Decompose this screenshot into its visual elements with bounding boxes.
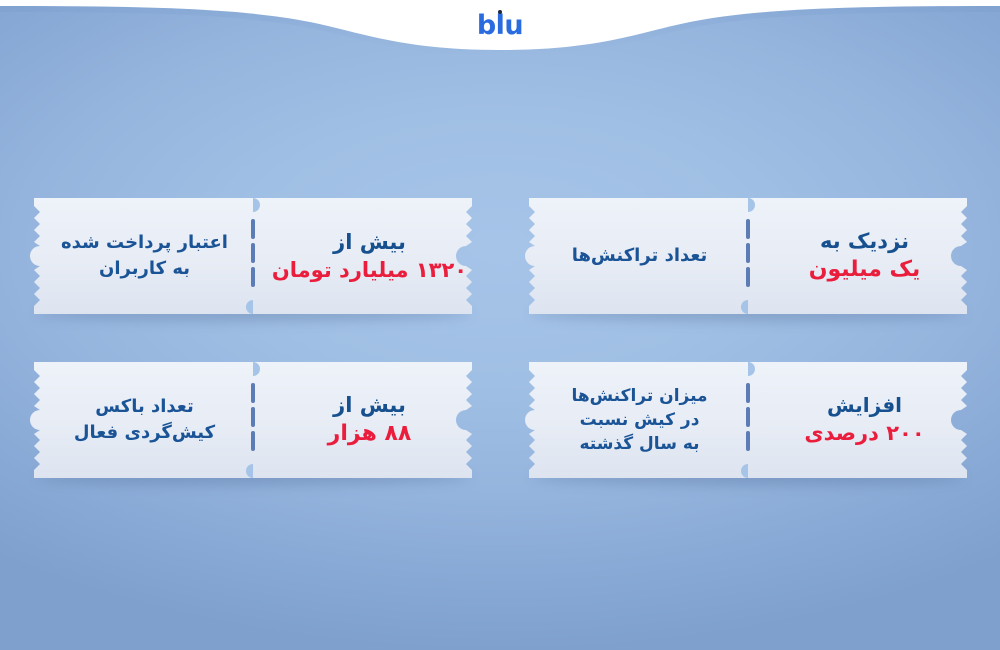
ticket-label-line: میزان تراکنش‌ها <box>571 384 707 408</box>
stat-ticket: بیش از ۸۸ هزار تعداد باکس کیش‌گردی فعال <box>28 360 478 480</box>
logo-letter-u: u <box>504 10 523 41</box>
stat-ticket: افزایش ۲۰۰ درصدی میزان تراکنش‌ها در کیش … <box>523 360 973 480</box>
ticket-value-main: ۱۳۲۰ میلیارد تومان <box>272 256 467 284</box>
stats-ticket-grid: نزدیک به یک میلیون تعداد تراکنش‌ها <box>0 196 1000 480</box>
ticket-label-line: تعداد تراکنش‌ها <box>572 243 708 269</box>
ticket-label-line: تعداد باکس <box>95 394 193 420</box>
ticket-value-main: یک میلیون <box>809 255 921 285</box>
ticket-label-stub: تعداد باکس کیش‌گردی فعال <box>28 360 262 480</box>
ticket-label-line: در کیش نسبت <box>580 408 700 432</box>
ticket-value-main: ۲۰۰ درصدی <box>804 419 924 447</box>
ticket-value-main: ۸۸ هزار <box>328 419 412 449</box>
stat-ticket: بیش از ۱۳۲۰ میلیارد تومان اعتبار پرداخت … <box>28 196 478 316</box>
stat-ticket: نزدیک به یک میلیون تعداد تراکنش‌ها <box>523 196 973 316</box>
ticket-content: نزدیک به یک میلیون تعداد تراکنش‌ها <box>523 196 973 316</box>
blu-logo: blu <box>0 12 1000 39</box>
ticket-label-stub: تعداد تراکنش‌ها <box>523 196 757 316</box>
logo-letter-l-dotted: l <box>496 12 505 39</box>
ticket-content: بیش از ۱۳۲۰ میلیارد تومان اعتبار پرداخت … <box>28 196 478 316</box>
ticket-label-line: اعتبار پرداخت شده <box>61 230 228 256</box>
ticket-value-lead: افزایش <box>827 392 902 419</box>
ticket-label-stub: اعتبار پرداخت شده به کاربران <box>28 196 262 316</box>
ticket-label-line: کیش‌گردی فعال <box>74 420 215 446</box>
ticket-content: افزایش ۲۰۰ درصدی میزان تراکنش‌ها در کیش … <box>523 360 973 480</box>
ticket-content: بیش از ۸۸ هزار تعداد باکس کیش‌گردی فعال <box>28 360 478 480</box>
ticket-label-line: به سال گذشته <box>579 432 699 456</box>
ticket-label-stub: میزان تراکنش‌ها در کیش نسبت به سال گذشته <box>523 360 757 480</box>
ticket-value-stub: نزدیک به یک میلیون <box>757 196 973 316</box>
ticket-value-stub: بیش از ۱۳۲۰ میلیارد تومان <box>262 196 478 316</box>
ticket-value-lead: بیش از <box>333 391 406 419</box>
logo-letter-b: b <box>477 10 496 41</box>
ticket-value-stub: افزایش ۲۰۰ درصدی <box>757 360 973 480</box>
ticket-value-stub: بیش از ۸۸ هزار <box>262 360 478 480</box>
ticket-value-lead: نزدیک به <box>820 227 909 255</box>
infographic-canvas: blu <box>0 0 1000 650</box>
ticket-value-lead: بیش از <box>333 228 406 256</box>
ticket-label-line: به کاربران <box>99 256 190 282</box>
